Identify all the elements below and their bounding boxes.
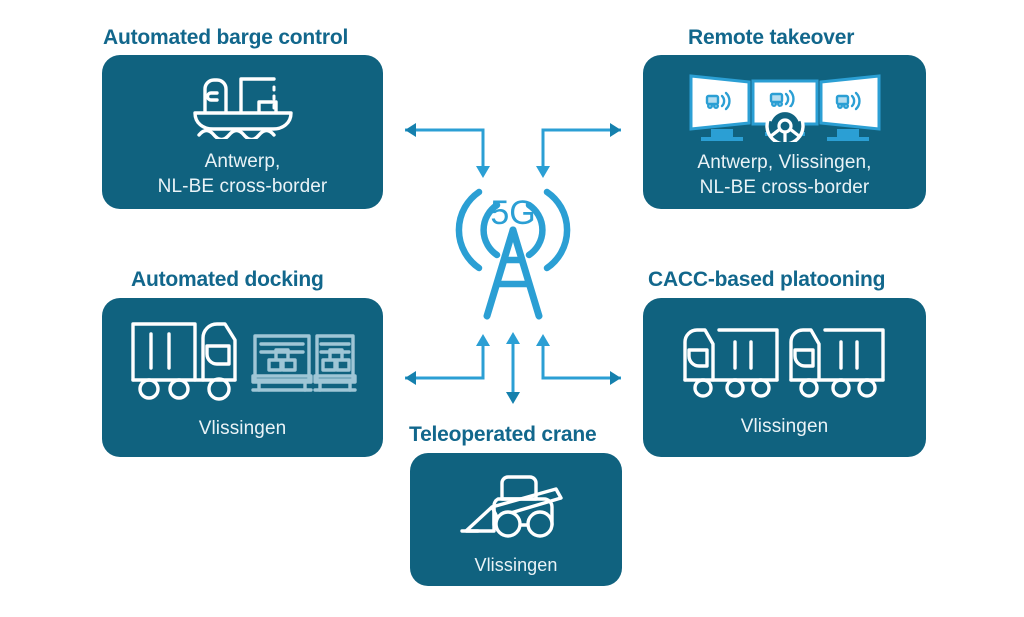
caption-line-1: Antwerp, Vlissingen,: [643, 151, 926, 176]
card-automated-docking[interactable]: Vlissingen: [102, 298, 383, 457]
caption-line-2: NL-BE cross-border: [643, 176, 926, 201]
caption-line-1: Vlissingen: [643, 415, 926, 440]
card-title-teleoperated-crane: Teleoperated crane: [409, 424, 596, 445]
card-caption-docking: Vlissingen: [102, 417, 383, 442]
caption-line-1: Antwerp,: [102, 150, 383, 175]
diagram-canvas: Automated barge control Antwerp, NL-BE: [0, 0, 1024, 617]
card-title-cacc-based-platooning: CACC-based platooning: [648, 269, 885, 290]
connector-hub-to-docking: [405, 334, 490, 385]
5g-tower-icon: 5G: [443, 176, 583, 320]
card-caption-crane: Vlissingen: [410, 554, 622, 577]
card-title-barge: Automated barge control: [103, 27, 348, 48]
card-cacc-based-platooning[interactable]: Vlissingen: [643, 298, 926, 457]
card-remote-takeover[interactable]: Antwerp, Vlissingen, NL-BE cross-border: [643, 55, 926, 209]
truck-pallets-icon: [127, 316, 359, 407]
caption-line-2: NL-BE cross-border: [102, 175, 383, 200]
two-trucks-platoon-icon: [679, 318, 891, 403]
connector-hub-to-platooning: [536, 334, 621, 385]
barge-ship-icon: [181, 69, 305, 144]
card-title-remote-takeover: Remote takeover: [688, 27, 854, 48]
caption-line-1: Vlissingen: [102, 417, 383, 442]
connector-hub-to-crane: [506, 332, 520, 404]
connectors-top: [385, 110, 641, 182]
card-title-automated-docking: Automated docking: [131, 269, 324, 290]
connectors-bottom: [385, 330, 641, 405]
card-caption-platooning: Vlissingen: [643, 415, 926, 440]
card-automated-barge-control[interactable]: Antwerp, NL-BE cross-border: [102, 55, 383, 209]
connector-hub-to-remote: [536, 123, 621, 178]
card-caption-remote: Antwerp, Vlissingen, NL-BE cross-border: [643, 151, 926, 200]
card-caption-barge: Antwerp, NL-BE cross-border: [102, 150, 383, 199]
caption-line-1: Vlissingen: [410, 554, 622, 577]
hub-label: 5G: [490, 194, 535, 232]
remote-monitors-steering-wheel-icon: [685, 66, 885, 147]
card-teleoperated-crane[interactable]: Vlissingen: [410, 453, 622, 586]
connector-hub-to-barge: [405, 123, 490, 178]
wheel-loader-crane-icon: [452, 469, 580, 546]
